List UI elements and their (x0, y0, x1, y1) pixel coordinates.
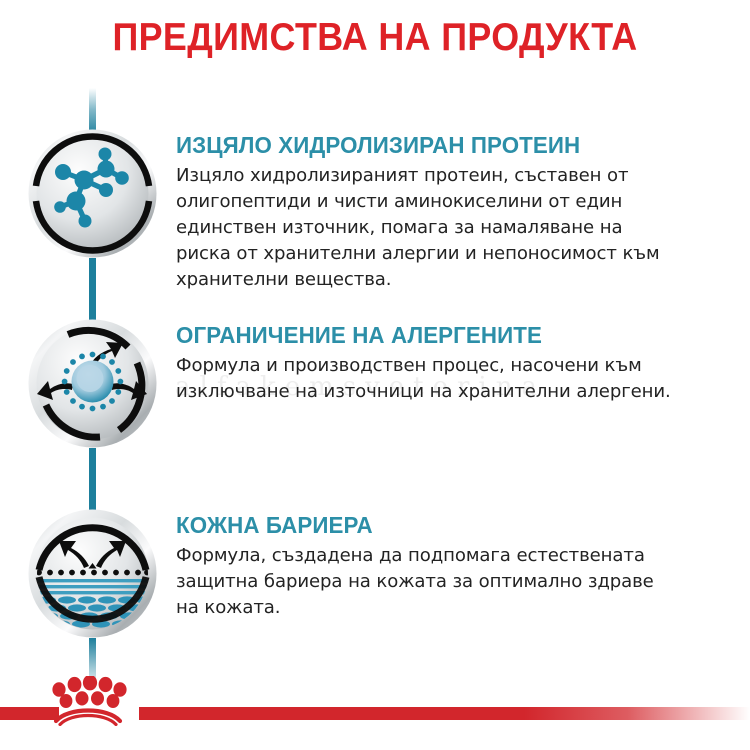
benefit-body: Изцяло хидролизираният протеин, съставен… (176, 163, 681, 293)
allergen-cell-arrows-icon (27, 318, 158, 449)
royal-canin-crown-logo (46, 676, 130, 726)
benefit-text-block: ИЗЦЯЛО ХИДРОЛИЗИРАН ПРОТЕИН Изцяло хидро… (176, 132, 681, 293)
page-title: ПРЕДИМСТВА НА ПРОДУКТА (30, 16, 720, 60)
footer-rule-right (139, 707, 750, 720)
benefit-body: Формула и производствен процес, насочени… (176, 353, 681, 405)
benefit-heading: ИЗЦЯЛО ХИДРОЛИЗИРАН ПРОТЕИН (176, 132, 656, 159)
skin-barrier-icon (27, 508, 158, 639)
benefit-text-block: ОГРАНИЧЕНИЕ НА АЛЕРГЕНИТЕ Формула и прои… (176, 322, 681, 405)
benefit-text-block: КОЖНА БАРИЕРА Формула, създадена да подп… (176, 512, 681, 621)
benefit-body: Формула, създадена да подпомага естестве… (176, 543, 681, 621)
molecule-icon (27, 128, 158, 259)
benefit-heading: ОГРАНИЧЕНИЕ НА АЛЕРГЕНИТЕ (176, 322, 656, 349)
benefit-heading: КОЖНА БАРИЕРА (176, 512, 656, 539)
